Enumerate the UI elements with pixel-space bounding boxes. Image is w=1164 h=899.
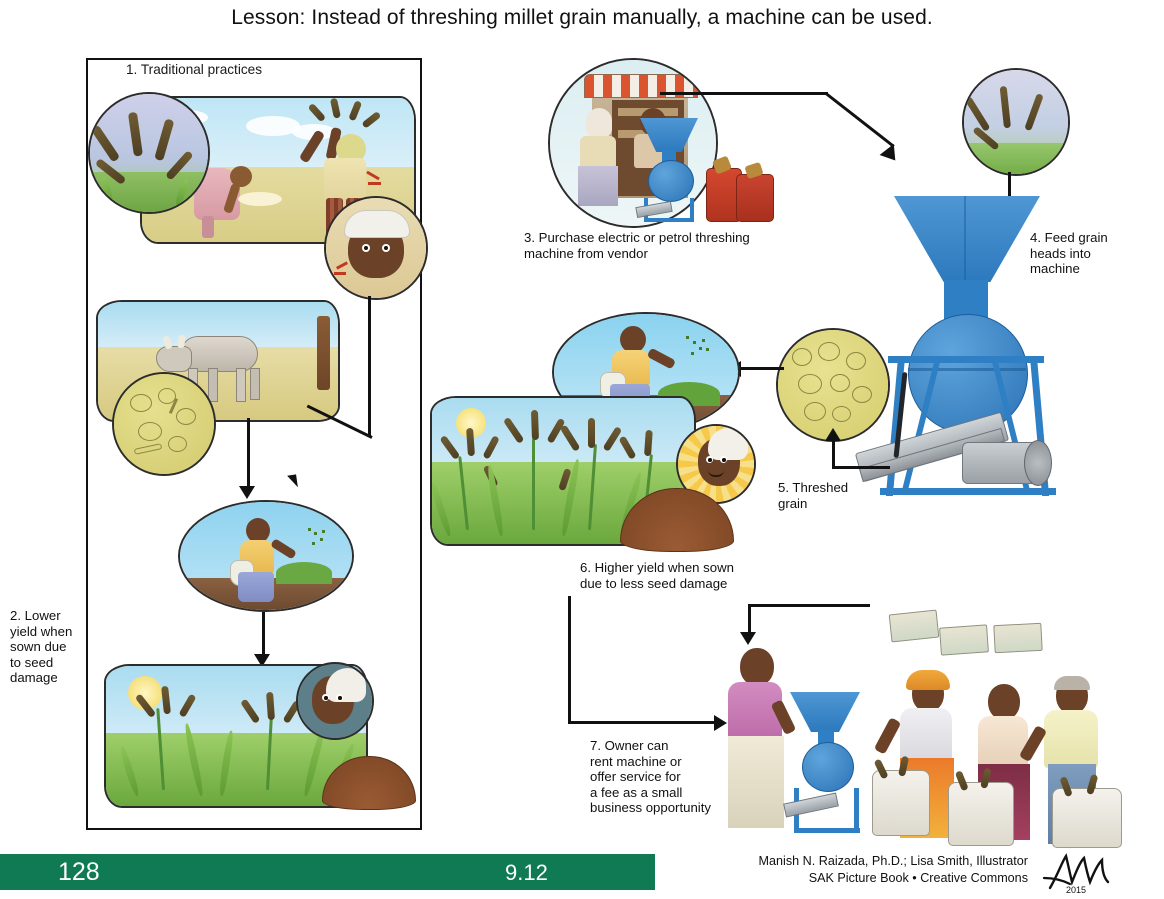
grain-sack-2 xyxy=(948,782,1014,846)
machine-owner-unit xyxy=(780,692,872,838)
oval-sowing-low-yield xyxy=(178,500,354,612)
straw-bundle xyxy=(310,98,380,132)
arrow-into-owner-vertical xyxy=(748,604,751,634)
arrow-6-to-7-vertical xyxy=(568,596,571,724)
credit-line-2: SAK Picture Book • Creative Commons xyxy=(759,870,1028,887)
arrow-head-diag-1 xyxy=(287,474,298,488)
arrow-head-down-1 xyxy=(239,486,255,499)
arrow-sowing-to-field xyxy=(262,612,265,656)
machine-small-vendor xyxy=(630,118,706,224)
inset-worker-pain xyxy=(324,196,428,300)
step-6-label: 6. Higher yield when sown due to less se… xyxy=(580,560,820,591)
step-5-label: 5. Threshed grain xyxy=(778,480,898,511)
signature-year: 2015 xyxy=(1066,885,1086,894)
step-1-label: 1. Traditional practices xyxy=(122,62,266,77)
credit-line-1: Manish N. Raizada, Ph.D.; Lisa Smith, Il… xyxy=(759,853,1028,870)
arrow-6-to-7-horizontal xyxy=(568,721,716,724)
machine-hopper xyxy=(894,196,1040,282)
inset-damaged-grain xyxy=(112,372,216,476)
inset-threshed-grain xyxy=(776,328,890,442)
step-2-label: 2. Lower yield when sown due to seed dam… xyxy=(10,608,82,686)
credit-block: Manish N. Raizada, Ph.D.; Lisa Smith, Il… xyxy=(759,853,1028,887)
arrow-head-diag-2 xyxy=(880,144,903,166)
inset-millet-heads-top-right xyxy=(962,68,1070,176)
illustrator-signature: 2015 xyxy=(1036,848,1136,894)
arrow-chute-to-grain-up xyxy=(832,440,835,468)
arrow-ox-to-sowing xyxy=(247,418,250,486)
figure-sowing-low xyxy=(224,516,304,602)
step-7-label: 7. Owner can rent machine or offer servi… xyxy=(590,738,720,816)
arrow-pain-vertical xyxy=(368,296,371,436)
arrow-vendor-to-machine xyxy=(660,92,828,95)
banknote-2 xyxy=(939,624,989,655)
arrow-chute-to-grain xyxy=(832,466,890,469)
arrow-into-owner-horizontal xyxy=(748,604,870,607)
banknote-1 xyxy=(889,610,940,643)
page-title: Lesson: Instead of threshing millet grai… xyxy=(0,6,1164,30)
section-number: 9.12 xyxy=(505,860,548,886)
arrow-vendor-to-machine-diag xyxy=(825,92,895,147)
grain-sack-3 xyxy=(1052,788,1122,848)
inset-worried-farmer xyxy=(296,662,374,740)
arrow-grain-to-sowing xyxy=(738,367,784,370)
panel-business-scene xyxy=(722,640,1142,840)
diagram-page: Lesson: Instead of threshing millet grai… xyxy=(0,0,1164,899)
arrow-head-up-1 xyxy=(825,428,841,441)
banknote-3 xyxy=(993,623,1042,653)
petrol-cans xyxy=(706,158,778,222)
inset-millet-heads xyxy=(88,92,210,214)
page-number: 128 xyxy=(58,858,100,887)
figure-customer xyxy=(572,108,624,208)
grain-sack-1 xyxy=(872,770,930,836)
step-4-label: 4. Feed grain heads into machine xyxy=(1030,230,1160,277)
step-3-label: 3. Purchase electric or petrol threshing… xyxy=(524,230,814,261)
